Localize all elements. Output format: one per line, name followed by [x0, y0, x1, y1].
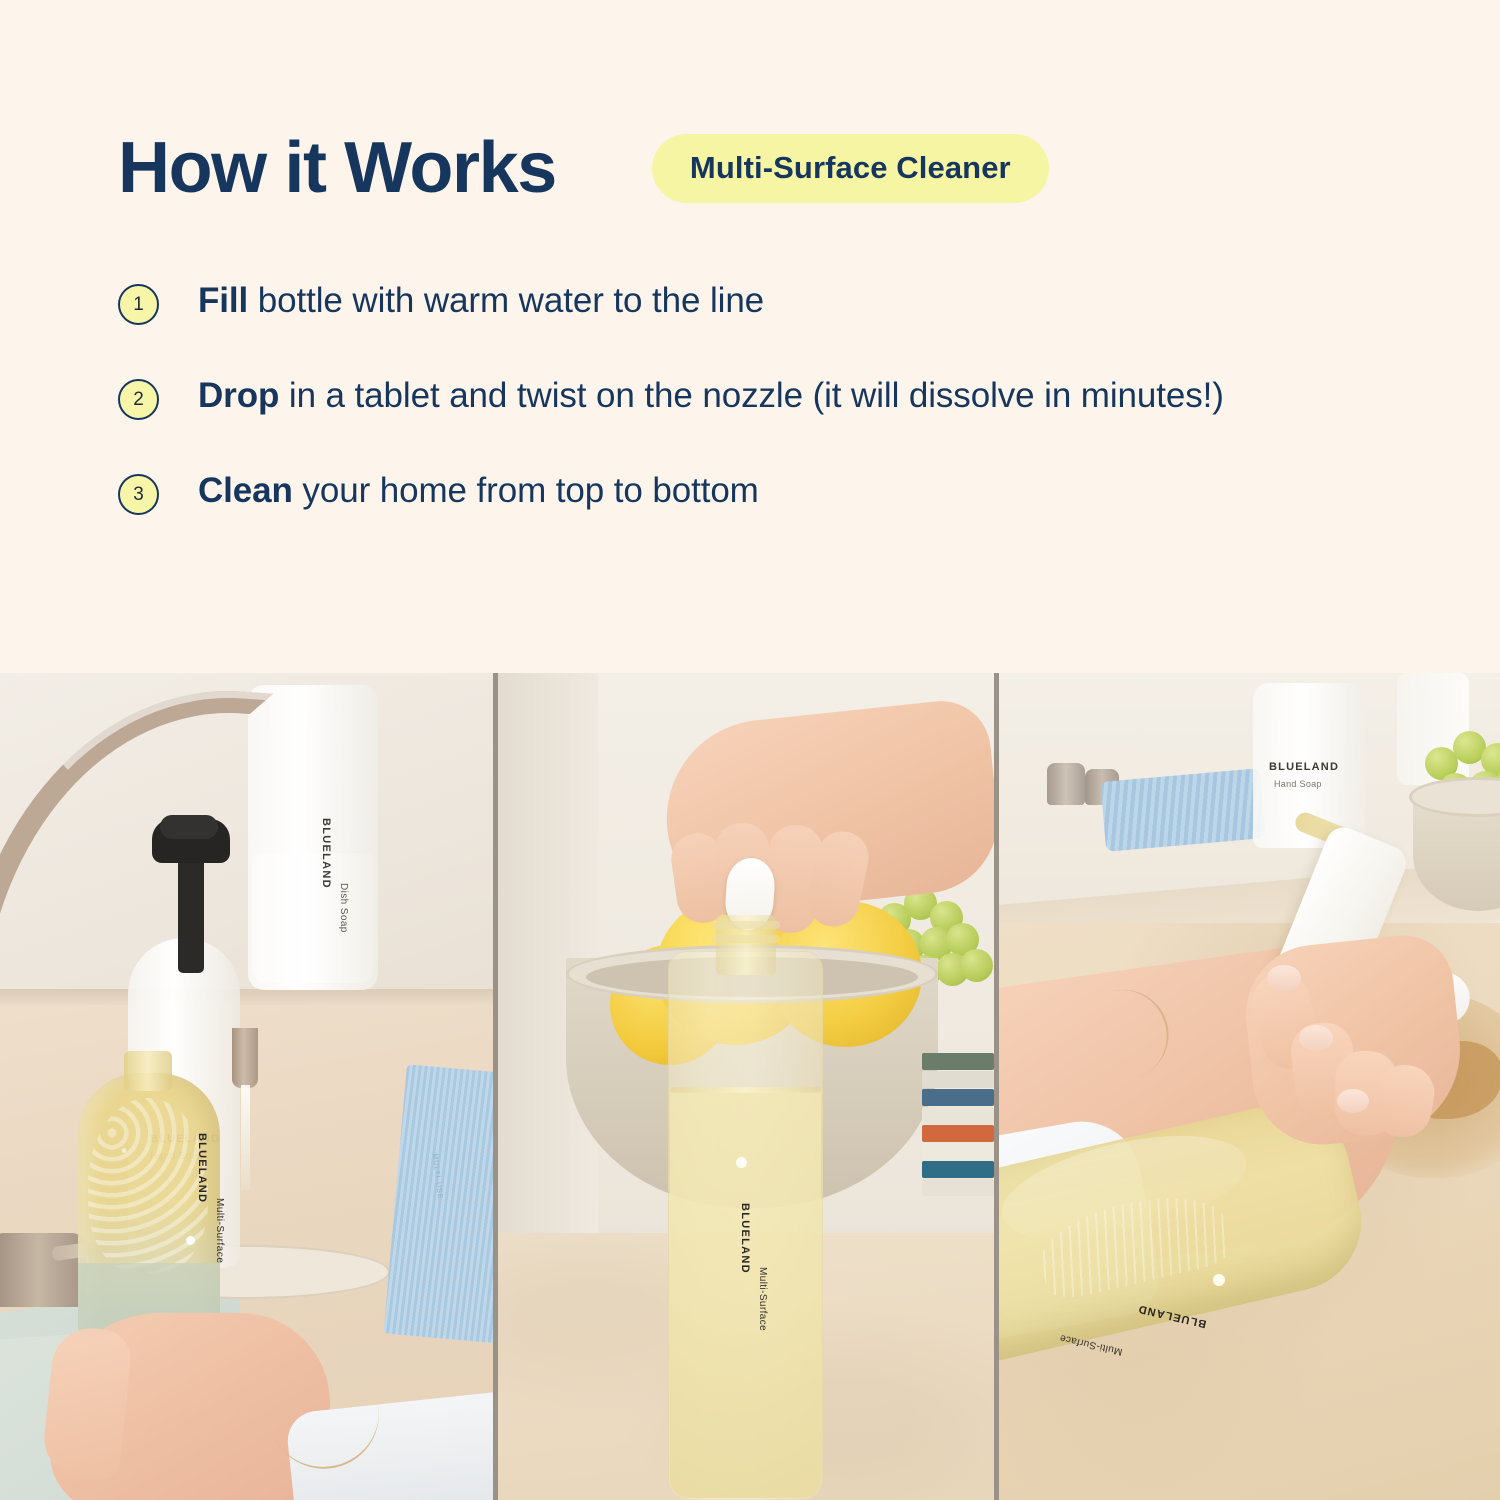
panel2-bottle-brand: BLUELAND — [739, 1203, 751, 1274]
panel2-book-stack — [922, 1053, 994, 1213]
panel1-water-foam — [88, 1098, 208, 1273]
step-item-1: 1 Fill bottle with warm water to the lin… — [118, 278, 1408, 325]
step-bold-1: Fill — [198, 281, 248, 320]
step-number-badge-3: 3 — [118, 474, 159, 515]
panel3-fingernail-1 — [1267, 965, 1301, 991]
panel3-fingernail-3 — [1337, 1089, 1369, 1113]
product-badge: Multi-Surface Cleaner — [652, 134, 1049, 203]
header-area: How it Works Multi-Surface Cleaner 1 Fil… — [0, 0, 1500, 673]
panel1-dish-soap-body — [252, 853, 374, 983]
steps-list: 1 Fill bottle with warm water to the lin… — [118, 278, 1408, 563]
panel2-neck-thread-2 — [712, 935, 780, 943]
panel1-spray-brand: BLUELAND — [196, 1133, 208, 1203]
photo-panel-fill: BLUELAND Dish Soap BLUELAND Hand Soap MU… — [0, 673, 493, 1500]
photo-strip: BLUELAND Dish Soap BLUELAND Hand Soap MU… — [0, 673, 1500, 1500]
step-rest-1: bottle with warm water to the line — [248, 281, 764, 320]
panel3-hand-soap-brand: BLUELAND — [1269, 761, 1339, 773]
panel1-dish-soap-brand: BLUELAND — [320, 818, 332, 889]
step-number-badge-2: 2 — [118, 379, 159, 420]
panel2-bottle-product: Multi-Surface — [757, 1267, 768, 1331]
step-text-3: Clean your home from top to bottom — [198, 468, 759, 515]
panel1-spray-bottle-neck — [124, 1051, 172, 1091]
panel2-fill-line-dot — [736, 1157, 747, 1168]
panel1-fill-line-dot — [186, 1236, 195, 1245]
how-it-works-infographic: How it Works Multi-Surface Cleaner 1 Fil… — [0, 0, 1500, 1500]
step-text-2: Drop in a tablet and twist on the nozzle… — [198, 373, 1224, 420]
panel3-fill-line-dot — [1213, 1274, 1225, 1286]
panel3-fingers — [1257, 973, 1457, 1153]
step-rest-3: your home from top to bottom — [293, 471, 759, 510]
panel1-water-stream — [241, 1085, 250, 1190]
photo-panel-drop-tablet: BLUELAND Multi-Surface — [498, 673, 994, 1500]
step-text-1: Fill bottle with warm water to the line — [198, 278, 764, 325]
title-row: How it Works Multi-Surface Cleaner — [118, 118, 1408, 218]
photo-panel-twist-nozzle: BLUELAND Hand Soap BLUELAND Mu — [999, 673, 1500, 1500]
panel1-spray-product: Multi-Surface — [214, 1198, 225, 1263]
panel1-faucet-spout — [232, 1028, 258, 1088]
step-number-badge-1: 1 — [118, 284, 159, 325]
step-rest-2: in a tablet and twist on the nozzle (it … — [279, 376, 1224, 415]
panel3-fingernail-2 — [1299, 1025, 1333, 1051]
panel1-dish-soap-product: Dish Soap — [338, 883, 349, 933]
panel3-faucet-knob-left — [1047, 763, 1085, 805]
step-item-3: 3 Clean your home from top to bottom — [118, 468, 1408, 515]
page-title: How it Works — [118, 132, 556, 204]
panel2-neck-thread-1 — [712, 921, 780, 929]
step-item-2: 2 Drop in a tablet and twist on the nozz… — [118, 373, 1408, 420]
step-bold-2: Drop — [198, 376, 279, 415]
panel2-bottle-liquid — [670, 1091, 821, 1498]
panel3-hand-soap-product: Hand Soap — [1274, 779, 1322, 789]
step-bold-3: Clean — [198, 471, 293, 510]
panel3-blue-sponge-cloth — [1100, 768, 1265, 852]
panel2-fill-line — [670, 1087, 821, 1093]
